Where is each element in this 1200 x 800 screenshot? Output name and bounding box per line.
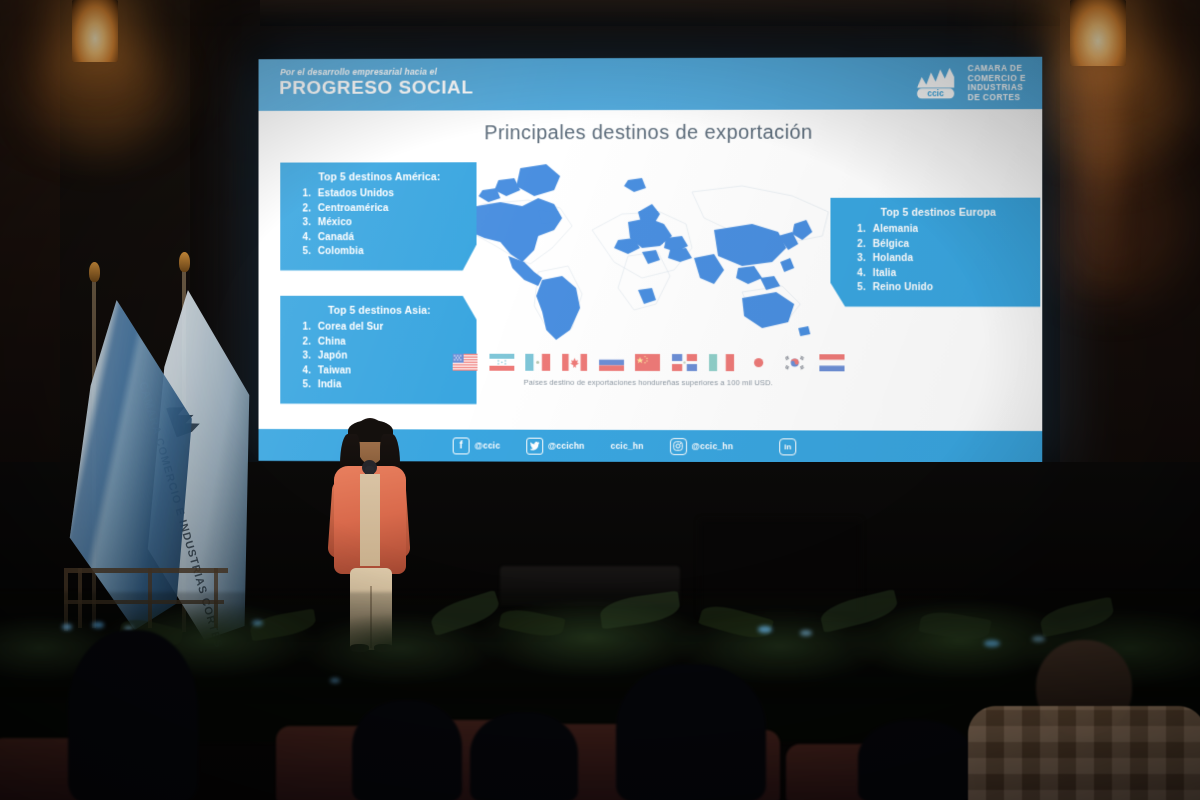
netherlands-flag-icon (819, 354, 844, 371)
social-facebook[interactable]: f @ccic (453, 437, 501, 454)
china-flag-icon (635, 354, 660, 371)
instagram-icon[interactable] (670, 438, 687, 455)
pillar-light-wash (1078, 60, 1122, 290)
audience-member (616, 664, 766, 800)
ccic-logo-text: CAMARA DE COMERCIO E INDUSTRIAS DE CORTE… (968, 64, 1026, 102)
list-item: Canadá (314, 231, 465, 245)
facebook-icon[interactable]: f (453, 437, 470, 454)
flag-pole-finial-left (89, 262, 100, 282)
audience-member (858, 720, 974, 800)
dominican-republic-flag-icon (672, 354, 697, 371)
logo-line-2: COMERCIO E (968, 73, 1026, 83)
projection-screen: Por el desarrollo empresarial hacia el P… (259, 57, 1043, 463)
audience-member-plaid-shirt (968, 706, 1200, 800)
box-top5-asia: Top 5 destinos Asia: Corea del Sur China… (280, 296, 476, 404)
header-tagline: Por el desarrollo empresarial hacia el (280, 67, 437, 77)
box-top5-america: Top 5 destinos América: Estados Unidos C… (280, 162, 476, 270)
box-america-title: Top 5 destinos América: (294, 171, 465, 183)
social-instagram[interactable]: @ccic_hn (670, 438, 734, 455)
auditorium-presentation-scene: Por el desarrollo empresarial hacia el P… (0, 0, 1200, 800)
italy-flag-icon (709, 354, 734, 371)
list-item: Corea del Sur (314, 321, 465, 336)
flags-caption: Países destino de exportaciones hondureñ… (259, 377, 1043, 387)
list-item: México (314, 216, 465, 231)
logo-line-1: CAMARA DE (968, 64, 1026, 74)
linkedin-icon[interactable]: in (779, 438, 796, 455)
list-item: Alemania (869, 223, 1028, 238)
ccic-logo-mark-icon: ccic (914, 64, 960, 102)
audience-member (470, 712, 578, 800)
south-korea-flag-icon (782, 354, 807, 371)
list-item: Estados Unidos (314, 187, 465, 202)
box-top5-europa: Top 5 destinos Europa Alemania Bélgica H… (830, 198, 1040, 307)
list-item: Holanda (869, 252, 1028, 267)
canada-flag-icon (562, 354, 587, 371)
list-item: Reino Unido (869, 281, 1028, 296)
accent-light (758, 626, 772, 633)
list-item: Italia (869, 267, 1028, 282)
accent-light (1032, 636, 1045, 642)
mexico-flag-icon (526, 354, 551, 371)
accent-light (800, 630, 812, 636)
audience-member (68, 630, 198, 800)
social-linkedin[interactable]: in (779, 438, 796, 455)
list-item: China (314, 335, 465, 350)
slide-header-bar: Por el desarrollo empresarial hacia el P… (259, 57, 1043, 111)
accent-light (92, 622, 104, 628)
audience-member (352, 700, 462, 800)
box-asia-title: Top 5 destinos Asia: (294, 305, 465, 317)
presenter-inner-top (360, 474, 380, 566)
list-item: Colombia (314, 245, 465, 259)
facebook-handle: @ccic (475, 441, 501, 451)
list-item: Centroamérica (314, 202, 465, 217)
flag-pole-finial-right (179, 252, 190, 272)
wall-sconce-left (72, 0, 118, 62)
box-europa-list: Alemania Bélgica Holanda Italia Reino Un… (849, 223, 1029, 296)
honduras-flag-icon (489, 354, 514, 371)
japan-flag-icon (746, 354, 771, 371)
box-europa-title: Top 5 destinos Europa (849, 207, 1029, 219)
twitter-icon[interactable] (526, 437, 543, 454)
list-item: Bélgica (869, 237, 1028, 252)
flags-row (453, 354, 845, 372)
accent-light (984, 640, 1000, 647)
russia-flag-icon (599, 354, 624, 371)
ccic-logo: ccic CAMARA DE COMERCIO E INDUSTRIAS DE … (914, 64, 1026, 103)
slide-body: Principales destinos de exportación (259, 109, 1043, 431)
header-title: PROGRESO SOCIAL (279, 77, 473, 99)
world-map (443, 152, 843, 343)
extra-handle: ccic_hn (611, 441, 644, 451)
accent-light (252, 620, 263, 626)
accent-light (62, 624, 72, 630)
svg-text:ccic: ccic (928, 89, 945, 99)
wall-sconce-right (1070, 0, 1126, 66)
logo-line-3: INDUSTRIAS (968, 83, 1026, 93)
instagram-handle: @ccic_hn (692, 441, 734, 451)
slide-title: Principales destinos de exportación (259, 121, 1043, 146)
twitter-handle: @ccichn (548, 441, 585, 451)
box-america-list: Estados Unidos Centroamérica México Cana… (294, 187, 465, 259)
social-twitter[interactable]: @ccichn (526, 437, 584, 454)
united-states-flag-icon (453, 354, 478, 371)
presentation-slide: Por el desarrollo empresarial hacia el P… (259, 57, 1043, 463)
logo-line-4: DE CORTES (968, 93, 1026, 103)
list-item: Japón (314, 350, 465, 365)
accent-light (330, 678, 340, 683)
